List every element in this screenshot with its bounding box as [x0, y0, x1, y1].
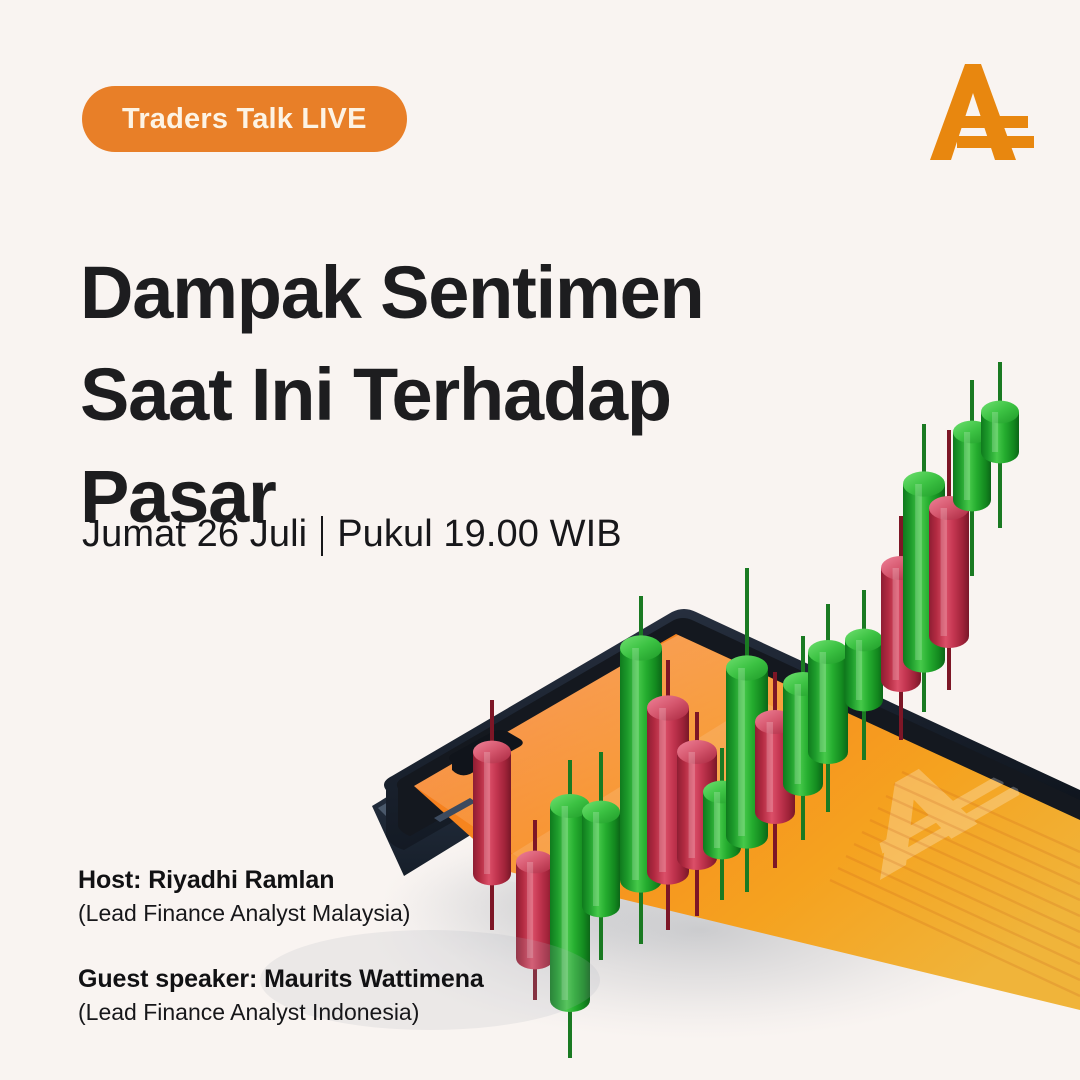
host-name: Host: Riyadhi Ramlan — [78, 866, 484, 895]
guest-credit: Guest speaker: Maurits Wattimena (Lead F… — [78, 965, 484, 1026]
guest-role: (Lead Finance Analyst Indonesia) — [78, 999, 484, 1026]
datetime-separator — [321, 516, 323, 556]
event-datetime: Jumat 26 Juli Pukul 19.00 WIB — [82, 513, 622, 556]
headline-line-2: Saat Ini Terhadap — [80, 344, 820, 446]
live-badge-label: Traders Talk LIVE — [122, 103, 367, 136]
host-role: (Lead Finance Analyst Malaysia) — [78, 900, 484, 927]
poster-canvas: Traders Talk LIVE Dampak Sentimen Saat I… — [0, 0, 1080, 1080]
page-title: Dampak Sentimen Saat Ini Terhadap Pasar — [80, 242, 820, 548]
brand-logo — [924, 60, 1034, 166]
event-time: Pukul 19.00 WIB — [337, 513, 622, 556]
event-date: Jumat 26 Juli — [82, 513, 307, 556]
live-badge[interactable]: Traders Talk LIVE — [82, 86, 407, 152]
speaker-credits: Host: Riyadhi Ramlan (Lead Finance Analy… — [78, 866, 484, 1026]
a-mark-icon — [924, 60, 1034, 166]
host-credit: Host: Riyadhi Ramlan (Lead Finance Analy… — [78, 866, 484, 927]
poster-text-layer: Traders Talk LIVE Dampak Sentimen Saat I… — [0, 0, 1080, 1080]
headline-line-1: Dampak Sentimen — [80, 242, 820, 344]
guest-name: Guest speaker: Maurits Wattimena — [78, 965, 484, 994]
